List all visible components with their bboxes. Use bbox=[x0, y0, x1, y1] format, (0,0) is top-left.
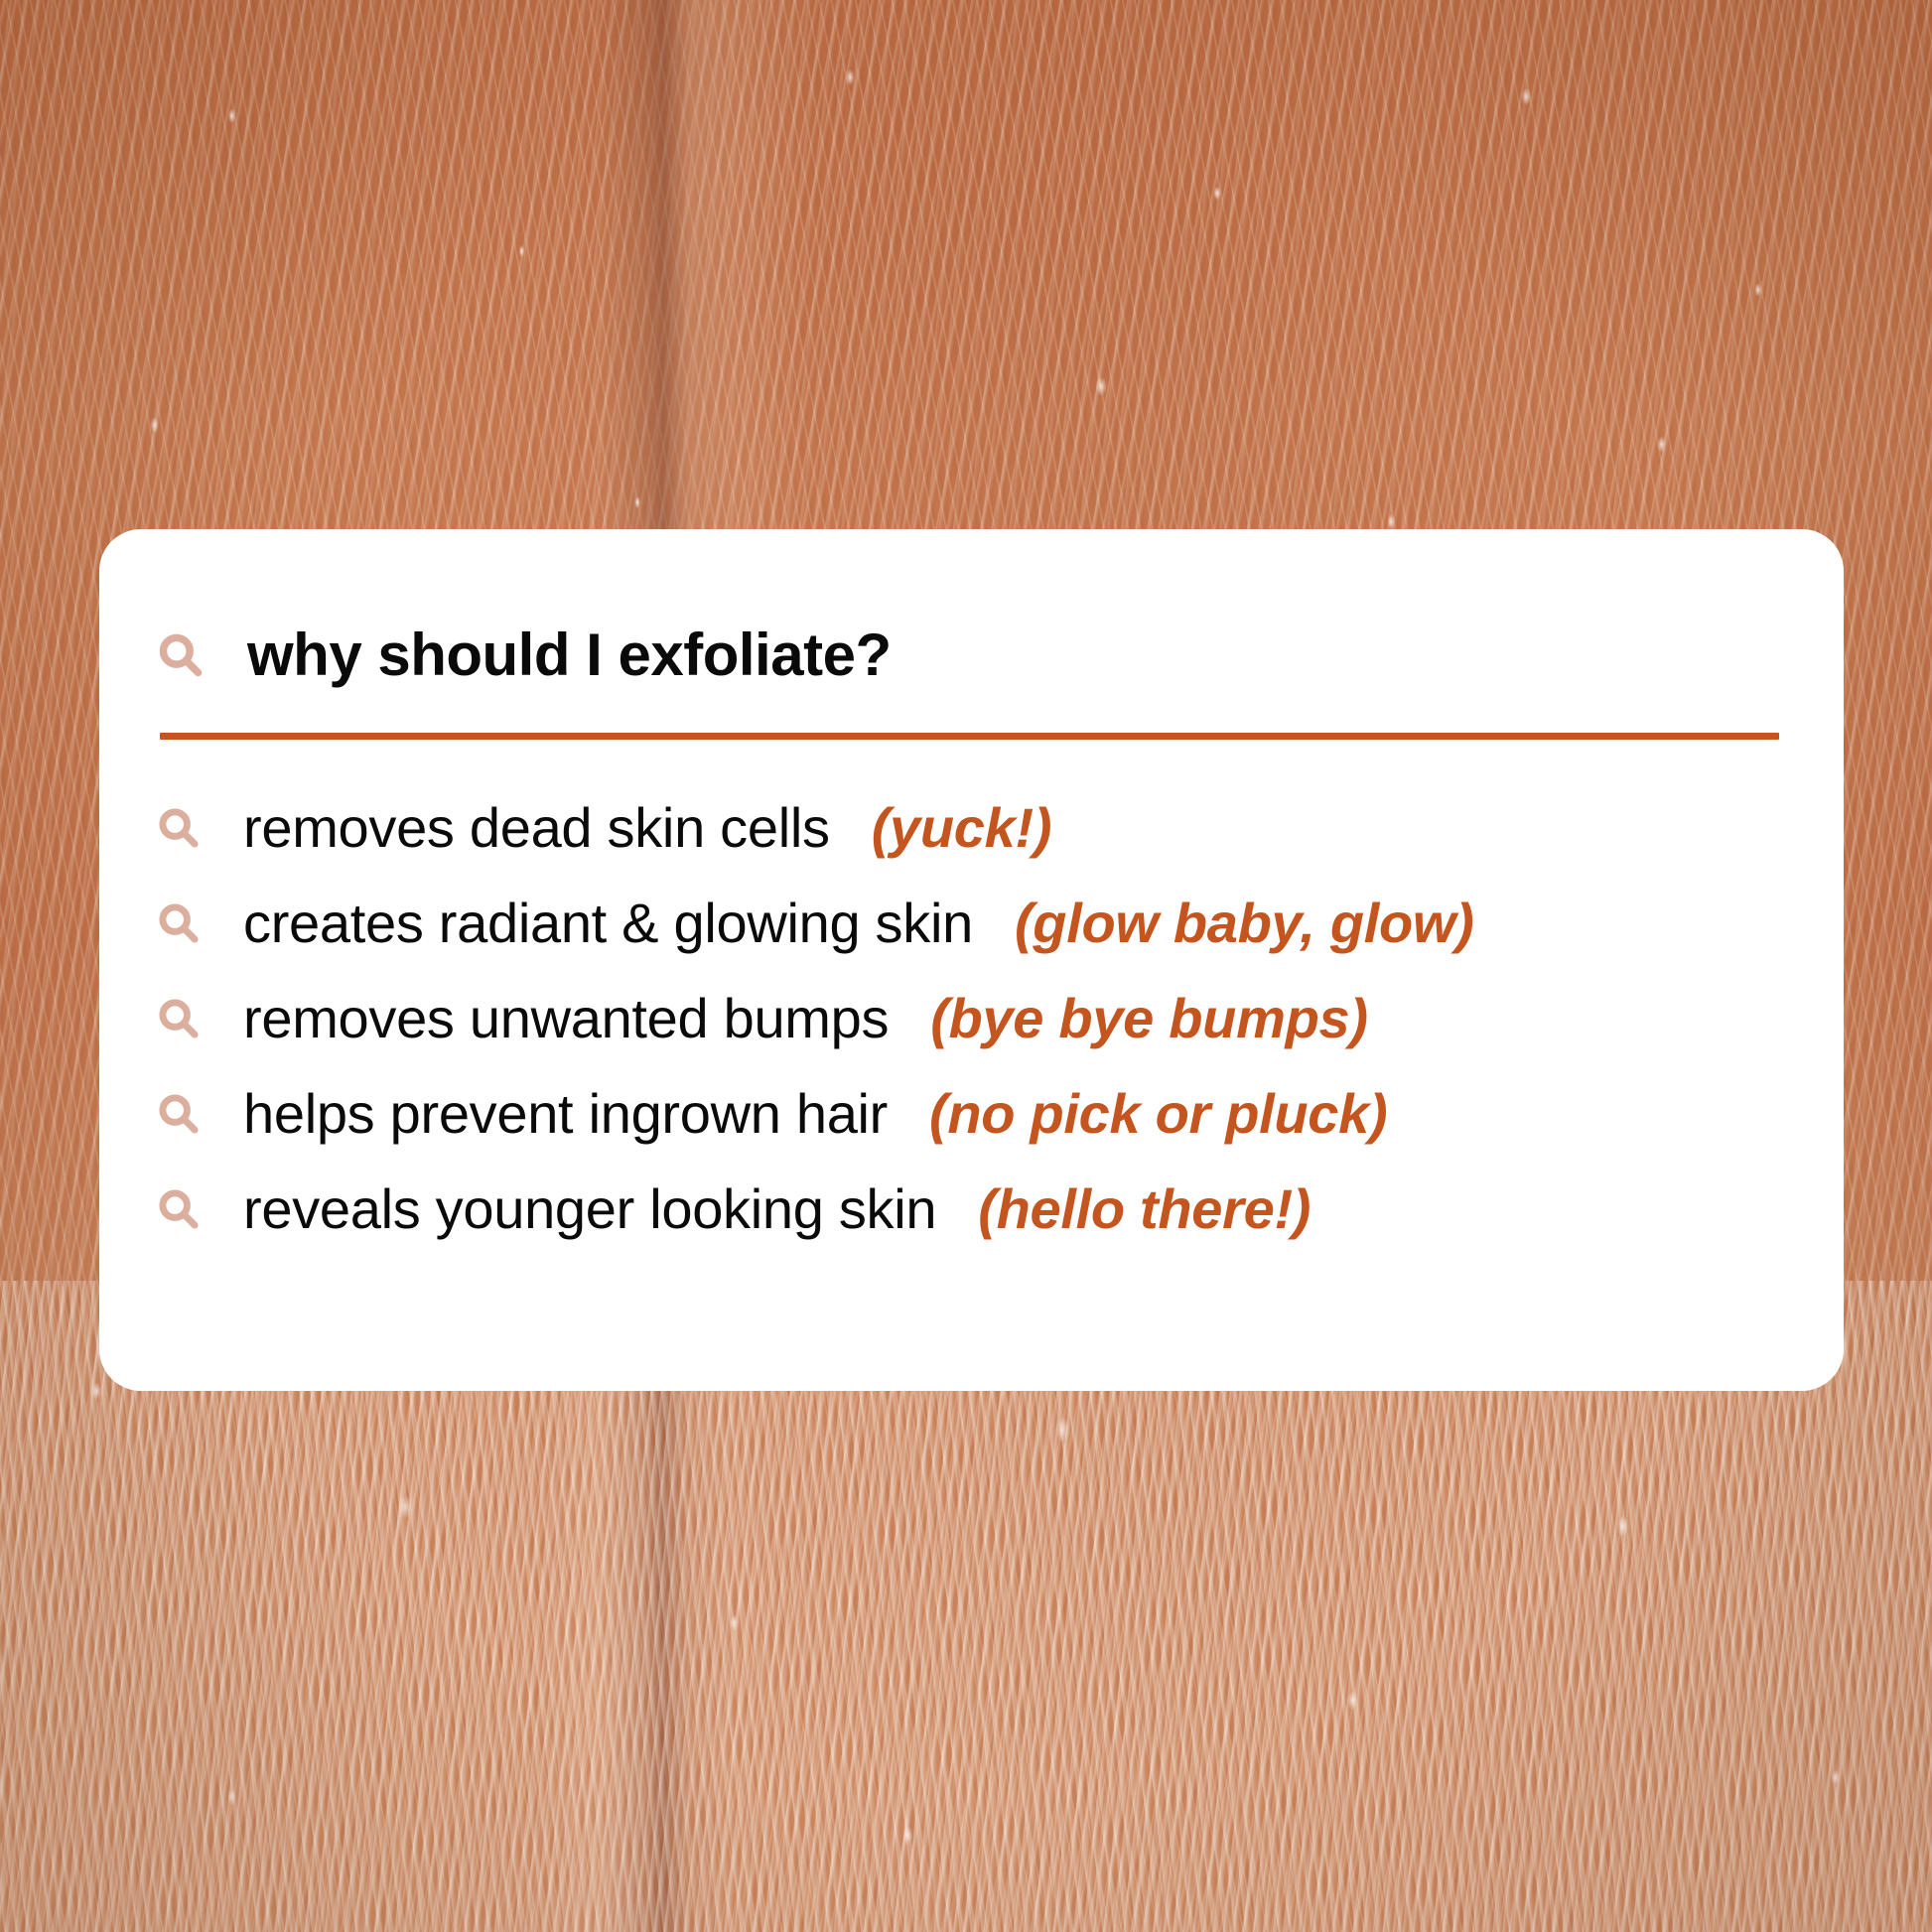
list-item-label: removes unwanted bumps bbox=[243, 991, 889, 1046]
list-item-label: removes dead skin cells bbox=[243, 800, 830, 856]
info-card: why should I exfoliate? removes dead ski… bbox=[99, 529, 1844, 1391]
list-item: helps prevent ingrown hair (no pick or p… bbox=[156, 1066, 1804, 1162]
search-icon bbox=[156, 630, 206, 680]
search-icon bbox=[156, 805, 202, 851]
list-item: removes unwanted bumps (bye bye bumps) bbox=[156, 971, 1804, 1066]
divider bbox=[160, 733, 1779, 740]
list-item-aside: (no pick or pluck) bbox=[929, 1086, 1387, 1142]
list-item-label: helps prevent ingrown hair bbox=[243, 1086, 888, 1142]
list-item: creates radiant & glowing skin (glow bab… bbox=[156, 876, 1804, 971]
list-item-label: reveals younger looking skin bbox=[243, 1181, 936, 1237]
search-icon bbox=[156, 1091, 202, 1137]
card-heading: why should I exfoliate? bbox=[156, 625, 892, 685]
list-item: removes dead skin cells (yuck!) bbox=[156, 780, 1804, 876]
page-title: why should I exfoliate? bbox=[247, 625, 892, 685]
search-icon bbox=[156, 900, 202, 946]
list-item-aside: (glow baby, glow) bbox=[1015, 896, 1474, 951]
benefit-list: removes dead skin cells (yuck!) creates … bbox=[156, 780, 1804, 1257]
search-icon bbox=[156, 1186, 202, 1232]
list-item: reveals younger looking skin (hello ther… bbox=[156, 1162, 1804, 1257]
search-icon bbox=[156, 996, 202, 1041]
list-item-aside: (hello there!) bbox=[978, 1181, 1311, 1237]
list-item-label: creates radiant & glowing skin bbox=[243, 896, 973, 951]
list-item-aside: (bye bye bumps) bbox=[930, 991, 1367, 1046]
list-item-aside: (yuck!) bbox=[872, 800, 1052, 856]
poster-canvas: why should I exfoliate? removes dead ski… bbox=[0, 0, 1932, 1932]
